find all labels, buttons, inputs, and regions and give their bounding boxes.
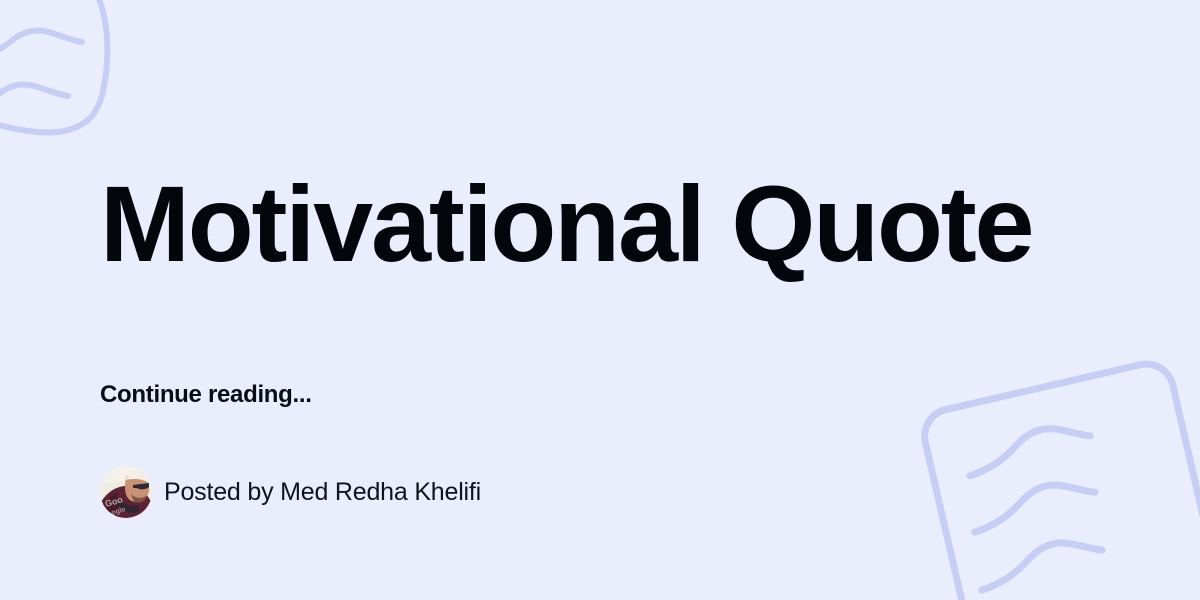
blog-post-preview-card: Motivational Quote Continue reading... <box>0 0 1200 600</box>
byline: Goo ogle Posted by Med Redha Khelifi <box>100 466 481 518</box>
avatar: Goo ogle <box>100 466 152 518</box>
user-avatar-photo-icon: Goo ogle <box>100 466 152 518</box>
page-title: Motivational Quote <box>100 170 1032 278</box>
continue-reading-link[interactable]: Continue reading... <box>100 381 312 409</box>
byline-label: Posted by Med Redha Khelifi <box>164 478 481 507</box>
post-content: Motivational Quote Continue reading... <box>100 0 1120 600</box>
